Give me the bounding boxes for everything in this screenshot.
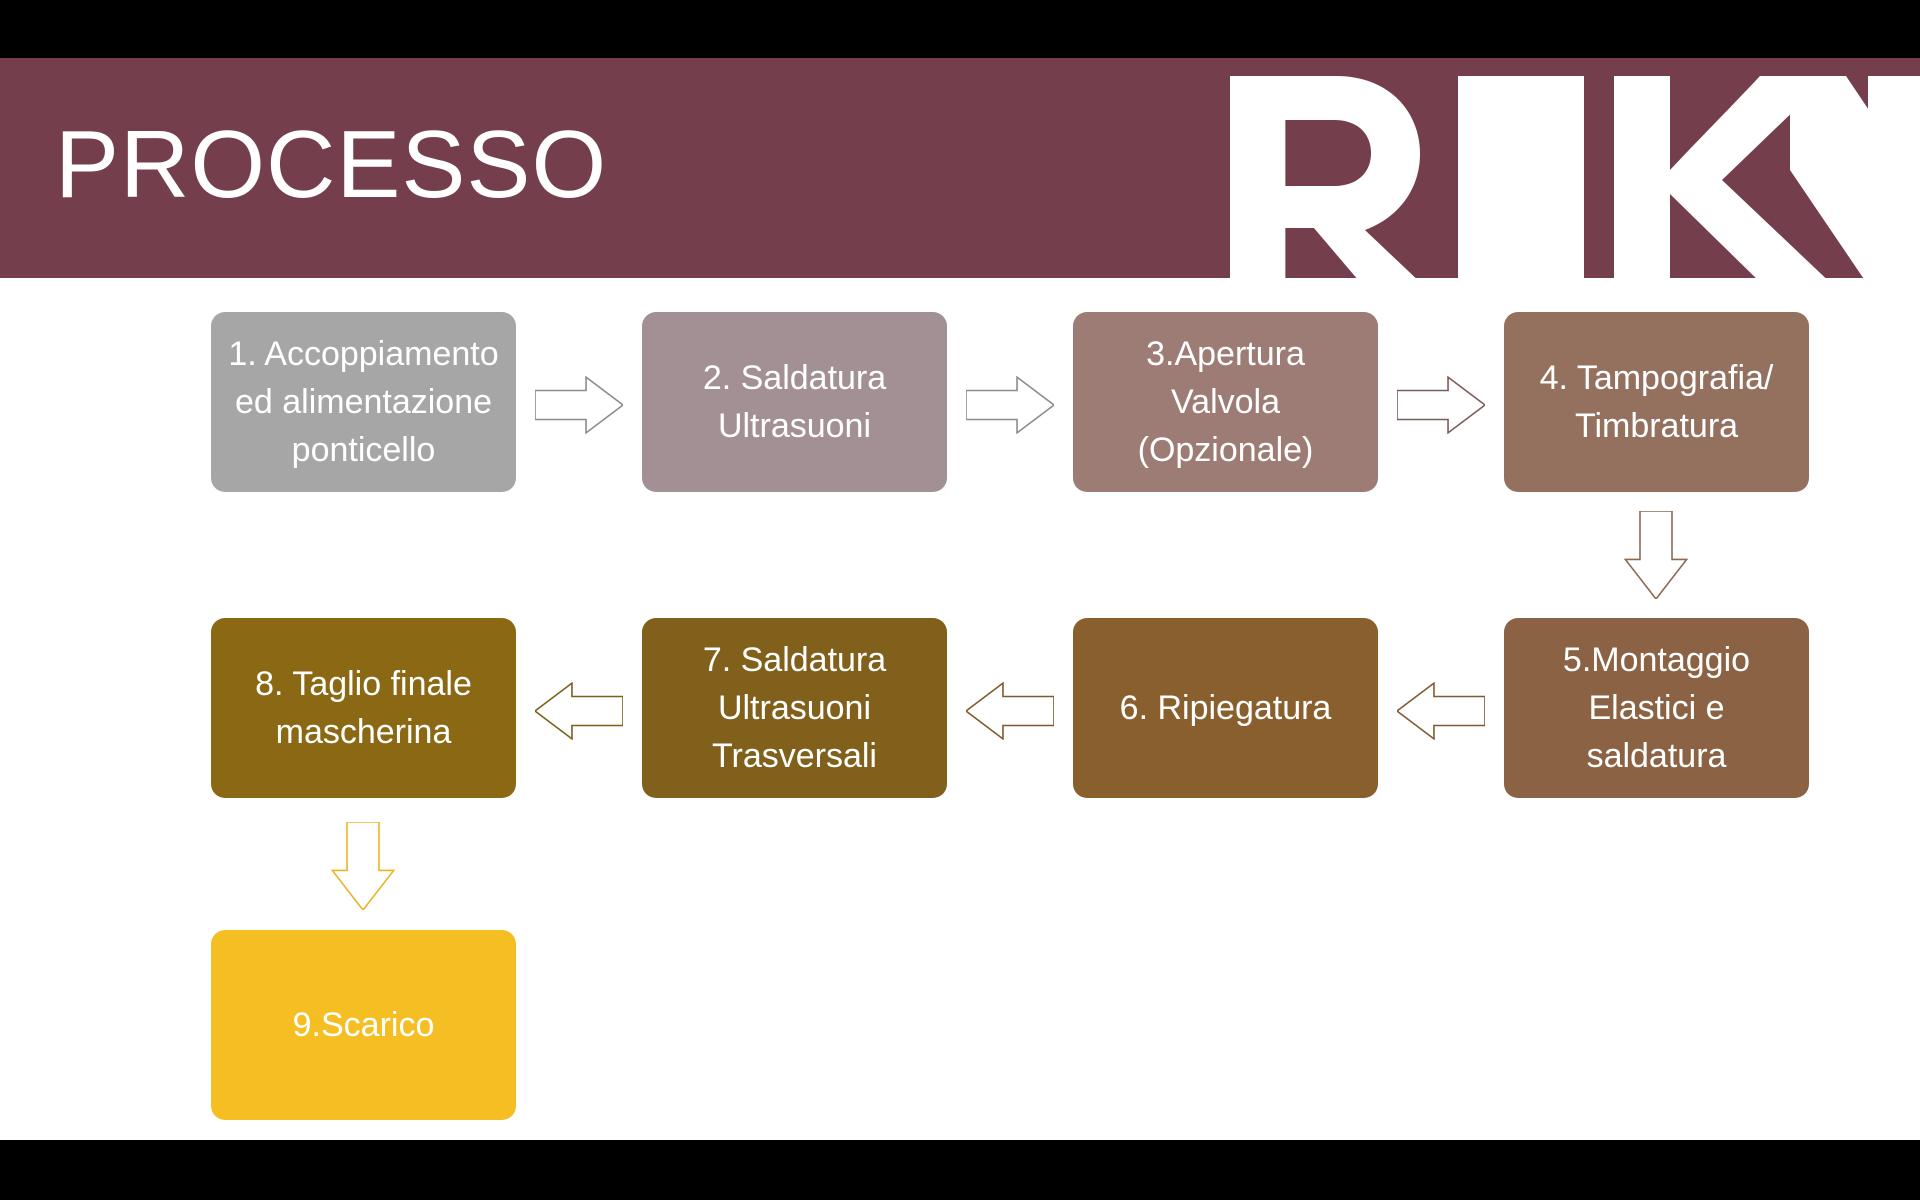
process-step-box[interactable]: 8. Taglio finale mascherina [211,618,516,798]
process-step-label: 8. Taglio finale mascherina [225,660,502,756]
process-step-box[interactable]: 1. Accoppiamento ed alimentazione pontic… [211,312,516,492]
company-logo-watermark [1230,58,1920,288]
flow-arrow-left-icon [535,682,623,740]
process-step-label: 4. Tampografia/ Timbratura [1518,354,1795,450]
letterbox-bottom [0,1140,1920,1200]
process-step-box[interactable]: 6. Ripiegatura [1073,618,1378,798]
process-step-box[interactable]: 2. Saldatura Ultrasuoni [642,312,947,492]
process-step-box[interactable]: 7. Saldatura Ultrasuoni Trasversali [642,618,947,798]
flow-arrow-right-icon [535,376,623,434]
flow-arrow-down-icon [1624,511,1688,599]
process-step-label: 1. Accoppiamento ed alimentazione pontic… [225,330,502,474]
page-title: PROCESSO [55,110,607,220]
flow-arrow-right-icon [1397,376,1485,434]
process-step-label: 3.Apertura Valvola (Opzionale) [1087,330,1364,474]
process-step-label: 6. Ripiegatura [1087,684,1364,732]
flow-arrow-left-icon [966,682,1054,740]
process-step-box[interactable]: 9.Scarico [211,930,516,1120]
slide-canvas: PROCESSO 1. Accoppiamento ed alimentazio… [0,58,1920,1140]
process-step-label: 9.Scarico [225,1001,502,1049]
process-step-label: 2. Saldatura Ultrasuoni [656,354,933,450]
process-step-label: 5.Montaggio Elastici e saldatura [1518,636,1795,780]
process-step-label: 7. Saldatura Ultrasuoni Trasversali [656,636,933,780]
process-step-box[interactable]: 3.Apertura Valvola (Opzionale) [1073,312,1378,492]
flow-arrow-left-icon [1397,682,1485,740]
process-step-box[interactable]: 4. Tampografia/ Timbratura [1504,312,1809,492]
letterbox-top [0,0,1920,58]
flow-arrow-down-icon [331,822,395,910]
flow-arrow-right-icon [966,376,1054,434]
process-step-box[interactable]: 5.Montaggio Elastici e saldatura [1504,618,1809,798]
